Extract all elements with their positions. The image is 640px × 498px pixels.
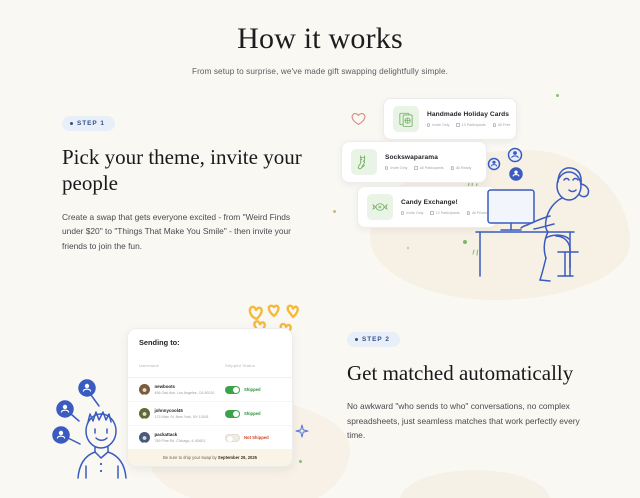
people-icon — [414, 166, 417, 169]
people-icon — [456, 123, 459, 126]
theme-card-meta: Invite Only 10 Participants All Free — [427, 123, 507, 127]
step-2-title: Get matched automatically — [347, 360, 585, 386]
socks-icon — [351, 149, 377, 175]
section-header: How it works From setup to surprise, we'… — [0, 22, 640, 76]
step-1-badge-label: STEP 1 — [77, 120, 105, 127]
lock-icon — [385, 166, 388, 169]
step-1-badge: STEP 1 — [62, 116, 115, 131]
meta-item: 10 Participants — [456, 123, 485, 127]
shipped-toggle[interactable] — [225, 434, 240, 442]
shipped-toggle[interactable] — [225, 386, 240, 394]
ship-deadline-prefix: Be sure to ship your swap by — [163, 455, 218, 460]
theme-card[interactable]: Handmade Holiday Cards Invite Only 10 Pa… — [383, 98, 517, 140]
people-icon — [430, 211, 433, 214]
step-1-body: Create a swap that gets everyone excited… — [62, 210, 310, 253]
decor-dot — [463, 240, 467, 244]
meta-item: Invite Only — [401, 211, 423, 215]
greeting-card-icon — [393, 106, 419, 132]
lock-icon — [427, 123, 430, 126]
background-blob-bottom-right — [400, 470, 550, 498]
sending-to-heading: Sending to: — [128, 329, 292, 354]
toggle-knob — [233, 387, 239, 393]
toggle-knob — [227, 436, 233, 442]
row-username: newboots — [155, 384, 215, 389]
step-1-block: STEP 1 Pick your theme, invite your peop… — [62, 112, 310, 253]
badge-dot-icon — [70, 122, 73, 125]
lock-icon — [401, 211, 404, 214]
shipped-toggle[interactable] — [225, 410, 240, 418]
status-badge: Shipped — [244, 387, 261, 392]
row-address: 123 Main St, New York, NY 10001 — [155, 415, 209, 419]
heart-outline-icon — [350, 110, 367, 132]
step-2-badge-label: STEP 2 — [362, 336, 390, 343]
meta-item: All Free — [493, 123, 511, 127]
meta-item: All Participants — [414, 166, 443, 170]
decor-dot — [333, 210, 336, 213]
step-2-block: STEP 2 Get matched automatically No awkw… — [347, 328, 585, 443]
step-1-title: Pick your theme, invite your people — [62, 144, 310, 197]
theme-card-meta: Invite Only All Participants All Ready — [385, 166, 477, 170]
how-it-works-section: How it works From setup to surprise, we'… — [0, 0, 640, 498]
badge-dot-icon — [355, 338, 358, 341]
step-2-badge: STEP 2 — [347, 332, 400, 347]
person-at-desk-illustration — [470, 140, 605, 285]
theme-card-title: Handmade Holiday Cards — [427, 111, 507, 118]
ship-deadline-date: September 29, 2025 — [218, 455, 257, 460]
meta-item: 12 Participants — [430, 211, 459, 215]
row-username: packattack — [155, 432, 206, 437]
meta-item: Invite Only — [427, 123, 449, 127]
decor-dot — [407, 247, 409, 249]
column-header-shipped-status: Shipped Status — [225, 363, 255, 368]
step-2-body: No awkward "who sends to who" conversati… — [347, 399, 585, 442]
decor-dot — [299, 460, 302, 463]
row-username: johnnycool45 — [155, 408, 209, 413]
row-address: 456 Oak Ave, Los Angeles, CA 90210 — [155, 391, 215, 395]
person-with-avatar-pins-illustration — [42, 372, 162, 482]
tag-icon — [451, 166, 454, 169]
decor-dot — [556, 94, 559, 97]
sparkle-decor — [295, 424, 309, 443]
candy-icon — [367, 194, 393, 220]
meta-item: Invite Only — [385, 166, 407, 170]
toggle-knob — [233, 411, 239, 417]
status-badge: Shipped — [244, 411, 261, 416]
row-address: 789 Pine Rd, Chicago, IL 60601 — [155, 439, 206, 443]
theme-card[interactable]: Sockswaparama Invite Only All Participan… — [341, 141, 487, 183]
meta-item: All Ready — [451, 166, 472, 170]
page-title: How it works — [0, 22, 640, 56]
theme-card-title: Sockswaparama — [385, 154, 477, 161]
page-subtitle: From setup to surprise, we've made gift … — [0, 67, 640, 76]
tag-icon — [493, 123, 496, 126]
column-header-username: Username — [139, 363, 159, 368]
status-badge: Not Shipped — [244, 435, 269, 440]
